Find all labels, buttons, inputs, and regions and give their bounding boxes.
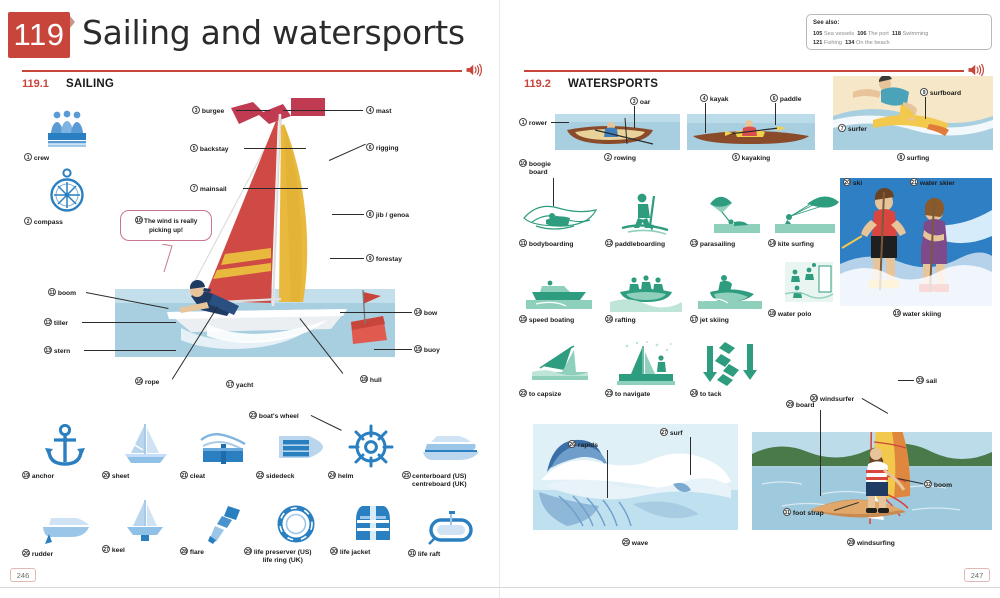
leader-line — [690, 437, 691, 475]
see-also-ref-label[interactable]: Sea vessels — [824, 31, 854, 37]
page-gutter — [499, 0, 500, 598]
item-label: keel — [112, 547, 125, 554]
item-label: anchor — [32, 473, 54, 480]
item-label: life preserver (US) — [254, 549, 312, 556]
item-number: 1 — [519, 118, 527, 126]
label-board: 29board — [786, 400, 814, 410]
item-label: surfing — [907, 155, 930, 162]
item-label: windsurfing — [857, 540, 895, 547]
icon-caption: 19anchor — [22, 471, 54, 481]
item-number: 6 — [770, 94, 778, 102]
item-label: to capsize — [529, 391, 561, 398]
see-also-ref-num[interactable]: 105 — [813, 31, 822, 37]
leader-line — [705, 103, 706, 133]
section-rule — [22, 70, 462, 72]
item-label: helm — [338, 473, 354, 480]
chapter-number-badge: 119 — [8, 12, 70, 58]
item-number: 11 — [519, 239, 527, 247]
anchor-icon — [22, 422, 108, 468]
icon-caption: 29life preserver (US) life ring (UK) — [244, 547, 312, 566]
raft-icon — [605, 268, 687, 312]
item-label-alt: centreboard (UK) — [412, 481, 467, 488]
leader-line — [243, 188, 308, 189]
icon-caption: 17jet skiing — [690, 315, 729, 325]
centerboard-icon — [402, 422, 500, 468]
item-number: 5 — [732, 153, 740, 161]
item-label: mainsail — [200, 186, 227, 193]
label-surf: 27surf — [660, 428, 683, 438]
item-label: rigging — [376, 145, 399, 152]
item-number: 32 — [924, 480, 932, 488]
icon-cell-sheet[interactable]: 20sheet — [102, 422, 188, 468]
item-label: life raft — [418, 551, 440, 558]
icon-caption: 15speed boating — [519, 315, 574, 325]
leader-line — [330, 258, 364, 259]
paddleboarding-icon — [605, 192, 687, 236]
icon-cell-life-raft[interactable]: 31life raft — [408, 500, 494, 546]
item-label: forestay — [376, 256, 402, 263]
item-label: surf — [670, 430, 683, 437]
section-name: WATERSPORTS — [568, 78, 658, 90]
icon-cell-bodyboarding[interactable]: 11bodyboarding — [519, 192, 601, 236]
item-number: 25 — [402, 471, 410, 479]
icon-caption: 18water polo — [768, 309, 811, 319]
label-burgee: 3burgee — [192, 106, 224, 116]
icon-caption: 14kite surfing — [768, 239, 814, 249]
item-label: crew — [34, 155, 49, 162]
icon-caption: 24to tack — [690, 389, 721, 399]
label-surfer: 7surfer — [838, 124, 867, 134]
item-label: parasailing — [700, 241, 735, 248]
item-number: 12 — [44, 318, 52, 326]
item-label: boom — [58, 290, 76, 297]
item-number: 13 — [690, 239, 698, 247]
label-boom: 11boom — [48, 288, 76, 298]
item-label: boat's wheel — [259, 413, 299, 420]
item-number: 19 — [893, 309, 901, 317]
item-label: centerboard (US) — [412, 473, 466, 480]
item-label: water skiing — [903, 311, 942, 318]
life-raft-icon — [408, 500, 494, 546]
label-water-skier: 21water skier — [910, 178, 955, 188]
item-number: 2 — [604, 153, 612, 161]
leader-line — [634, 106, 635, 128]
sailboat-sheet-icon — [102, 422, 188, 468]
icon-caption: 27keel — [102, 545, 125, 555]
item-label: speed boating — [529, 317, 574, 324]
item-number: 26 — [568, 440, 576, 448]
icon-caption: 24helm — [328, 471, 354, 481]
kitesurfing-icon — [768, 192, 850, 236]
leader-line — [82, 322, 176, 323]
leader-line — [340, 312, 412, 313]
leader-line — [820, 410, 821, 496]
icon-caption: 13parasailing — [690, 239, 735, 249]
leader-line — [775, 103, 776, 125]
item-number: 17 — [226, 380, 234, 388]
icon-caption: 25centerboard (US) centreboard (UK) — [402, 471, 467, 490]
surfing-illustration — [833, 76, 993, 150]
item-number: 28 — [847, 538, 855, 546]
see-also-ref-num[interactable]: 134 — [845, 40, 854, 46]
item-label-alt: life ring (UK) — [263, 557, 303, 564]
item-label: backstay — [200, 146, 229, 153]
caption-wave: 25wave — [594, 538, 676, 548]
item-label: rower — [529, 120, 547, 127]
icon-cell-parasailing[interactable]: 13parasailing — [690, 192, 772, 236]
label-bow: 14bow — [414, 308, 437, 318]
label-boats-wheel: 23boat's wheel — [249, 411, 299, 421]
icon-cell-rafting[interactable]: 16rafting — [605, 268, 687, 312]
item-label: oar — [640, 99, 650, 106]
leader-line — [332, 214, 364, 215]
leader-line — [862, 398, 888, 414]
icon-cell-rudder[interactable]: 26rudder — [22, 500, 108, 546]
icon-cell-anchor[interactable]: 19anchor — [22, 422, 108, 468]
label-boogie-board: 10boogie board — [519, 159, 567, 178]
item-number: 18 — [768, 309, 776, 317]
label-surfboard: 9surfboard — [920, 88, 961, 98]
see-also-ref-label[interactable]: Fishing — [824, 40, 842, 46]
cleat-icon — [180, 422, 266, 468]
item-label: kite surfing — [778, 241, 814, 248]
item-label: sail — [926, 378, 937, 385]
speaker-icon[interactable] — [465, 62, 483, 78]
label-stern: 13stern — [44, 346, 70, 356]
leader-line — [925, 97, 926, 119]
item-number: 31 — [408, 549, 416, 557]
item-number: 21 — [910, 178, 918, 186]
label-mainsail: 7mainsail — [190, 184, 227, 194]
item-label: foot strap — [793, 510, 824, 517]
item-number: 3 — [630, 97, 638, 105]
keel-icon — [102, 496, 188, 542]
item-label: rowing — [614, 155, 636, 162]
item-number: 3 — [192, 106, 200, 114]
item-label: sidedeck — [266, 473, 295, 480]
item-number: 16 — [135, 377, 143, 385]
label-jib-genoa: 8jib / genoa — [366, 210, 409, 220]
icon-caption: 30life jacket — [330, 547, 370, 557]
item-number: 25 — [622, 538, 630, 546]
icon-cell-paddleboarding[interactable]: 12paddleboarding — [605, 192, 687, 236]
item-number: 7 — [838, 124, 846, 132]
label-rope: 16rope — [135, 377, 159, 387]
leader-line — [374, 349, 412, 350]
speech-bubble-wind: 10The wind is really picking up! — [120, 210, 212, 241]
capsize-icon — [519, 342, 601, 386]
item-number: 18 — [360, 375, 368, 383]
caption-surfing: 8surfing — [872, 153, 954, 163]
item-number: 6 — [366, 143, 374, 151]
item-number: 19 — [22, 471, 30, 479]
leader-line — [551, 122, 569, 123]
item-label: jib / genoa — [376, 212, 409, 219]
item-number: 8 — [366, 210, 374, 218]
item-label: water skier — [920, 180, 955, 187]
item-label: windsurfer — [820, 396, 854, 403]
chapter-number: 119 — [14, 17, 65, 53]
item-number: 14 — [414, 308, 422, 316]
label-rapids: 26rapids — [568, 440, 598, 450]
item-number: 22 — [256, 471, 264, 479]
item-label: jet skiing — [700, 317, 729, 324]
item-label: surfer — [848, 126, 867, 133]
item-label: ski — [853, 180, 862, 187]
item-label: rope — [145, 379, 160, 386]
item-label: cleat — [190, 473, 205, 480]
see-also-ref-label[interactable]: The port — [868, 31, 889, 37]
caption-windsurfing: 28windsurfing — [830, 538, 912, 548]
item-number: 15 — [519, 315, 527, 323]
icon-caption: 28flare — [180, 547, 204, 557]
parasailing-icon — [690, 192, 772, 236]
label-rigging: 6rigging — [366, 143, 399, 153]
item-label: yacht — [236, 382, 253, 389]
waterpolo-icon — [768, 262, 850, 306]
item-label: paddle — [780, 96, 802, 103]
item-number: 15 — [414, 345, 422, 353]
icon-caption: 1crew — [24, 153, 49, 163]
bodyboarding-icon — [519, 192, 601, 236]
caption-water-skiing: 19water skiing — [876, 309, 958, 319]
item-label: hull — [370, 377, 382, 384]
item-label: sheet — [112, 473, 129, 480]
section-number: 119.2 — [524, 78, 551, 90]
see-also-line-2: 121 Fishing 134 On the beach — [813, 40, 890, 46]
leader-line — [84, 350, 176, 351]
item-number: 17 — [690, 315, 698, 323]
wave-illustration — [533, 424, 738, 530]
item-number: 1 — [24, 153, 32, 161]
item-number: 30 — [330, 547, 338, 555]
item-number: 22 — [519, 389, 527, 397]
icon-cell-life-jacket[interactable]: 30life jacket — [330, 498, 416, 544]
icon-cell-water-polo[interactable]: 18water polo — [768, 262, 850, 306]
icon-cell-jet-skiing[interactable]: 17jet skiing — [690, 268, 772, 312]
leader-line — [607, 450, 608, 498]
item-label: stern — [54, 348, 70, 355]
item-label: boogie — [529, 161, 551, 168]
item-number: 11 — [48, 288, 56, 296]
icon-caption: 22to capsize — [519, 389, 561, 399]
label-windsurfer: 30windsurfer — [810, 394, 854, 404]
icon-caption: 12paddleboarding — [605, 239, 665, 249]
item-label: to tack — [700, 391, 722, 398]
item-number: 28 — [180, 547, 188, 555]
label-hull: 18hull — [360, 375, 382, 385]
item-label: burgee — [202, 108, 224, 115]
label-rower: 1rower — [519, 118, 547, 128]
section-name: SAILING — [66, 78, 114, 90]
item-number: 29 — [786, 400, 794, 408]
waterskiing-illustration — [840, 178, 992, 306]
item-label: paddleboarding — [615, 241, 665, 248]
icon-cell-speed-boating[interactable]: 15speed boating — [519, 268, 601, 312]
item-label: board — [796, 402, 815, 409]
item-number: 16 — [605, 315, 613, 323]
page-number-left: 246 — [10, 568, 36, 582]
item-label: rafting — [615, 317, 636, 324]
see-also-ref-num[interactable]: 118 — [892, 31, 901, 37]
item-number: 4 — [366, 106, 374, 114]
section-number: 119.1 — [22, 78, 49, 90]
item-label: mast — [376, 108, 392, 115]
label-tiller: 12tiller — [44, 318, 68, 328]
item-number: 10 — [135, 216, 143, 224]
item-number: 24 — [328, 471, 336, 479]
icon-cell-to-navigate[interactable]: 23to navigate — [605, 342, 687, 386]
item-label: life jacket — [340, 549, 370, 556]
section-rule — [524, 70, 964, 72]
see-also-ref-label[interactable]: On the beach — [856, 40, 890, 46]
label-forestay: 9forestay — [366, 254, 402, 264]
item-label: buoy — [424, 347, 440, 354]
item-number: 26 — [22, 549, 30, 557]
leader-line — [283, 110, 363, 111]
item-label: flare — [190, 549, 204, 556]
item-number: 33 — [916, 376, 924, 384]
item-label: compass — [34, 219, 63, 226]
see-also-box: See also: 105 Sea vessels 106 The port 1… — [806, 14, 992, 50]
rudder-icon — [22, 500, 108, 546]
item-label: water polo — [778, 311, 811, 318]
icon-caption: 26rudder — [22, 549, 53, 559]
item-number: 20 — [843, 178, 851, 186]
icon-cell-to-tack[interactable]: 24to tack — [690, 342, 772, 386]
label-backstay: 5backstay — [190, 144, 229, 154]
item-number: 14 — [768, 239, 776, 247]
label-buoy: 15buoy — [414, 345, 440, 355]
see-also-ref-num[interactable]: 121 — [813, 40, 822, 46]
label-boom-windsurf: 32boom — [924, 480, 952, 490]
item-label: kayak — [710, 96, 729, 103]
item-number: 13 — [44, 346, 52, 354]
icon-caption: 22sidedeck — [256, 471, 295, 481]
page-number-right: 247 — [964, 568, 990, 582]
icon-caption: 20sheet — [102, 471, 129, 481]
icon-cell-cleat[interactable]: 21cleat — [180, 422, 266, 468]
item-number: 4 — [700, 94, 708, 102]
item-number: 23 — [249, 411, 257, 419]
item-label: tiller — [54, 320, 68, 327]
icon-caption: 23to navigate — [605, 389, 650, 399]
item-number: 12 — [605, 239, 613, 247]
label-foot-strap: 31foot strap — [783, 508, 824, 518]
item-label: surfboard — [930, 90, 961, 97]
label-sail: 33sail — [916, 376, 937, 386]
kayaking-illustration — [687, 114, 815, 150]
speech-bubble-text: The wind is really picking up! — [144, 218, 197, 234]
leader-line — [236, 110, 270, 111]
item-number: 23 — [605, 389, 613, 397]
item-number: 7 — [190, 184, 198, 192]
speech-bubble-tail — [160, 244, 174, 274]
item-number: 8 — [897, 153, 905, 161]
item-label: bodyboarding — [529, 241, 574, 248]
tack-arrows-icon — [690, 342, 772, 386]
label-mast: 4mast — [366, 106, 392, 116]
label-ski: 20ski — [843, 178, 862, 188]
dictionary-spread: 119 Sailing and watersports See also: 10… — [0, 0, 1000, 598]
icon-caption: 31life raft — [408, 549, 440, 559]
see-also-title: See also: — [813, 19, 985, 29]
item-number: 21 — [180, 471, 188, 479]
icon-caption: 2compass — [24, 217, 63, 227]
item-number: 31 — [783, 508, 791, 516]
see-also-ref-label[interactable]: Swimming — [903, 31, 929, 37]
speedboat-icon — [519, 268, 601, 312]
icon-cell-to-capsize[interactable]: 22to capsize — [519, 342, 601, 386]
item-label: rudder — [32, 551, 53, 558]
see-also-line-1: 105 Sea vessels 106 The port 118 Swimmin… — [813, 31, 928, 37]
item-label: bow — [424, 310, 437, 317]
item-number: 9 — [920, 88, 928, 96]
page-title: Sailing and watersports — [82, 13, 465, 52]
icon-caption: 11bodyboarding — [519, 239, 573, 249]
leader-line — [244, 148, 306, 149]
item-label: to navigate — [615, 391, 650, 398]
item-label: boom — [934, 482, 952, 489]
label-yacht: 17yacht — [226, 380, 253, 390]
jetski-icon — [690, 268, 772, 312]
item-label: kayaking — [742, 155, 771, 162]
item-number: 27 — [660, 428, 668, 436]
item-label: wave — [632, 540, 648, 547]
icon-caption: 16rafting — [605, 315, 636, 325]
item-number: 5 — [190, 144, 198, 152]
rowing-illustration — [555, 114, 680, 150]
bottom-rule — [0, 587, 1000, 588]
item-label-2: board — [529, 169, 548, 176]
item-number: 29 — [244, 547, 252, 555]
item-number: 20 — [102, 471, 110, 479]
icon-cell-kitesurfing[interactable]: 14kite surfing — [768, 192, 850, 236]
item-number: 27 — [102, 545, 110, 553]
see-also-ref-num[interactable]: 106 — [857, 31, 866, 37]
caption-kayaking: 5kayaking — [710, 153, 792, 163]
caption-rowing: 2rowing — [580, 153, 660, 163]
item-number: 2 — [24, 217, 32, 225]
icon-cell-keel[interactable]: 27keel — [102, 496, 188, 542]
item-number: 10 — [519, 159, 527, 167]
life-jacket-icon — [330, 498, 416, 544]
item-number: 9 — [366, 254, 374, 262]
item-number: 24 — [690, 389, 698, 397]
item-label: rapids — [578, 442, 598, 449]
leader-line — [898, 380, 914, 381]
navigate-icon — [605, 342, 687, 386]
icon-cell-centerboard[interactable]: 25centerboard (US) centreboard (UK) — [402, 422, 500, 468]
icon-caption: 21cleat — [180, 471, 205, 481]
